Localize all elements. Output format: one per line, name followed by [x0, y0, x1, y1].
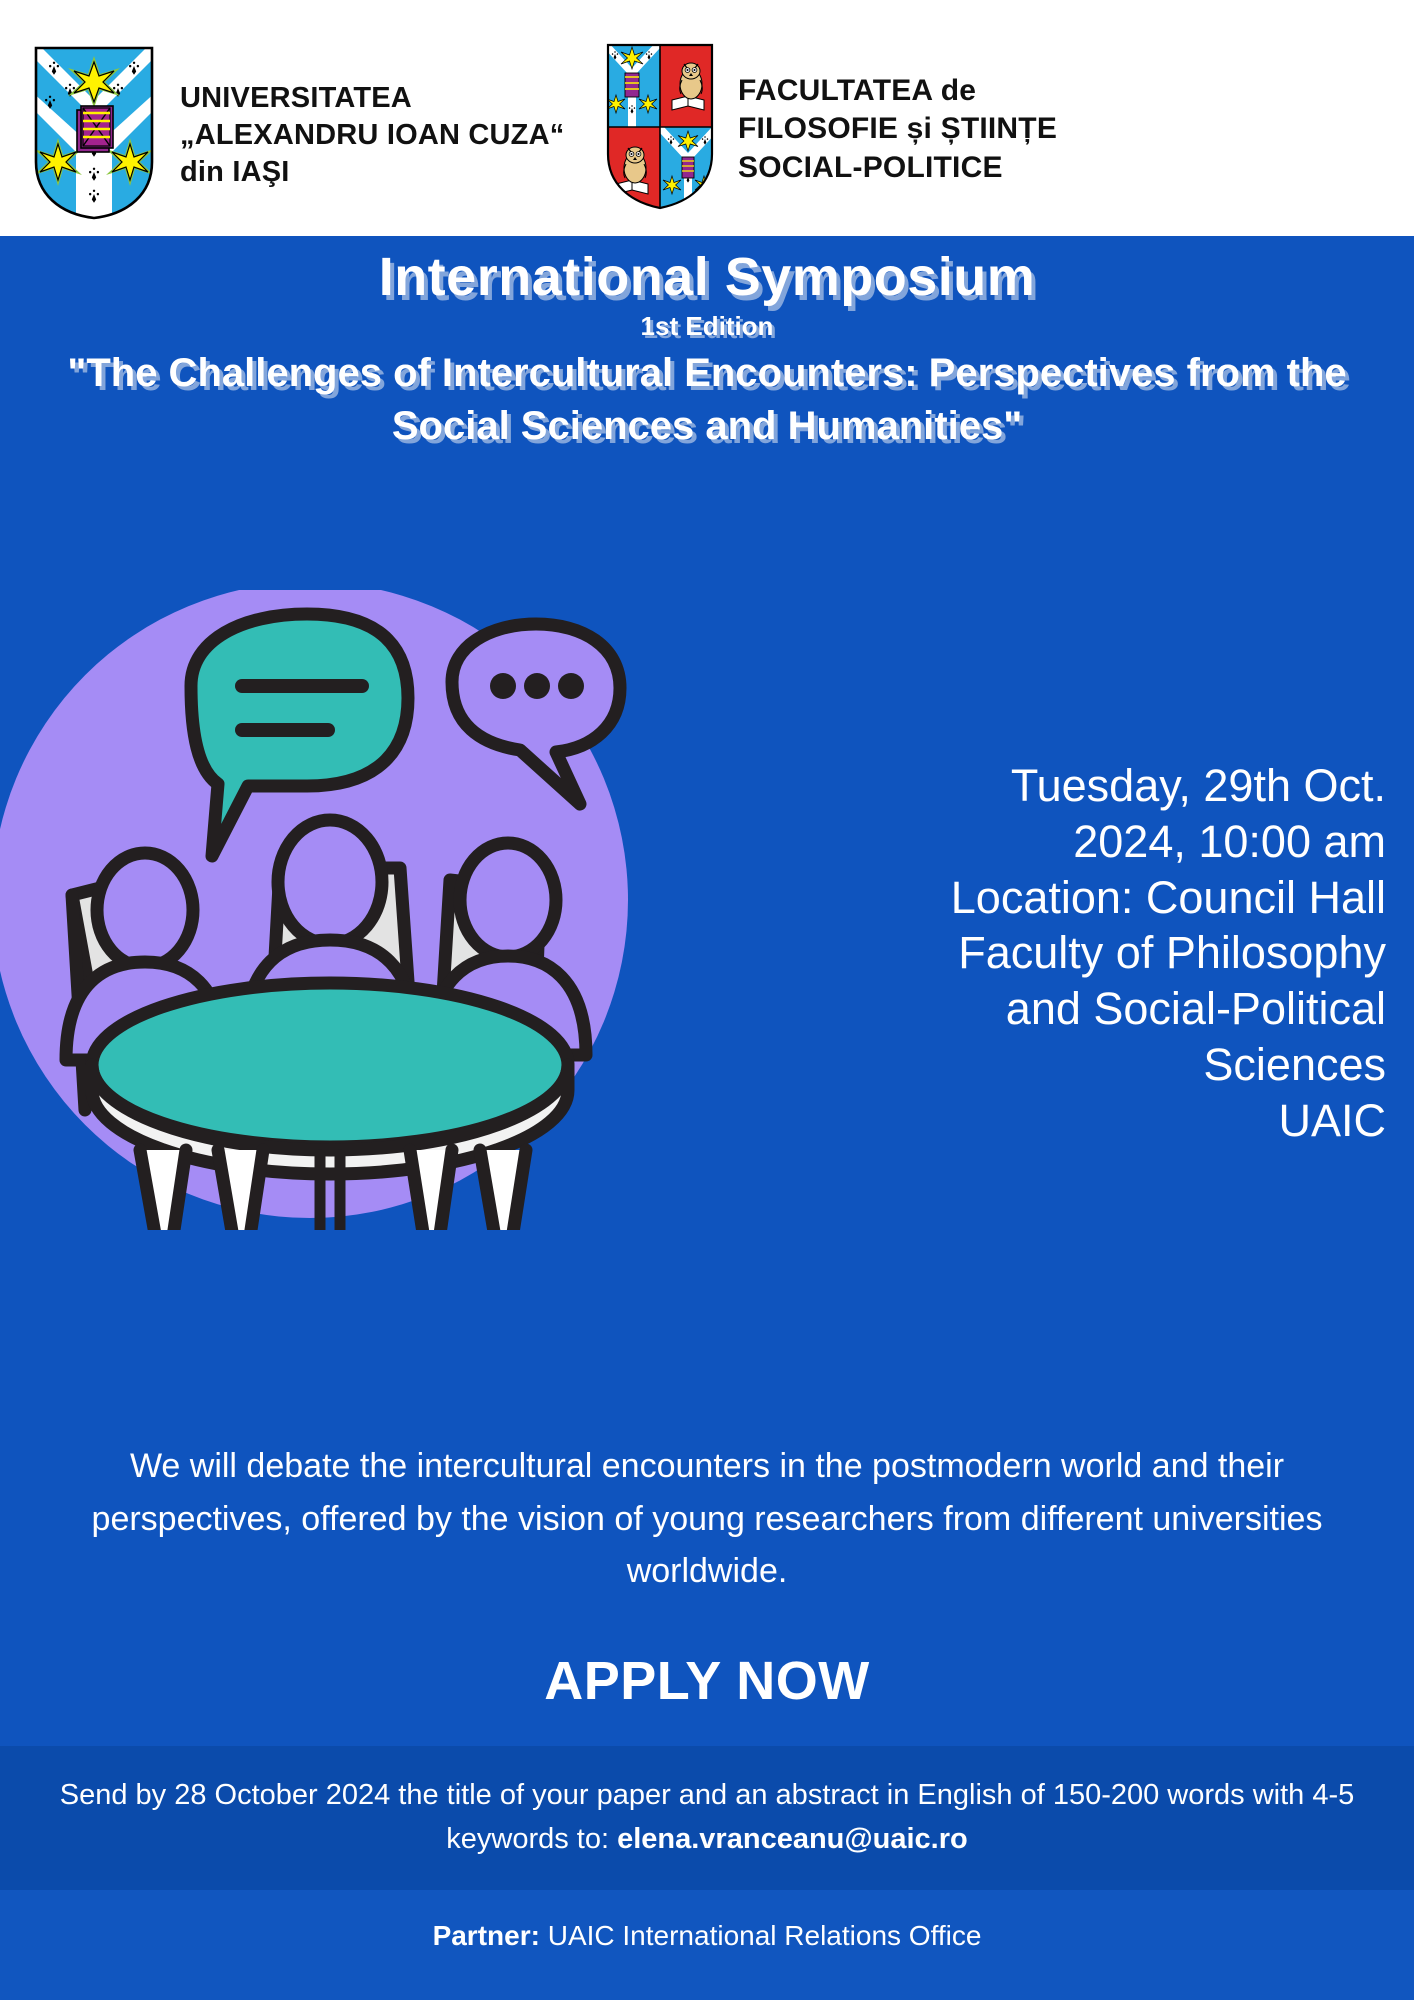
faculty-coat-of-arms-icon	[604, 42, 716, 217]
edition-subtitle: 1st Edition	[0, 312, 1414, 341]
uaic-coat-of-arms-icon	[30, 44, 158, 227]
apply-now-heading: APPLY NOW	[0, 1650, 1414, 1712]
universitatea-alexandru-ioan-cuza-logo: UNIVERSITATEA „ALEXANDRU IOAN CUZA“ din …	[30, 44, 564, 227]
facultatea-de-filosofie-logo: FACULTATEA de FILOSOFIE și ȘTIINȚE SOCIA…	[604, 42, 1057, 217]
faculty-logo-label: FACULTATEA de FILOSOFIE și ȘTIINȚE SOCIA…	[738, 72, 1057, 187]
event-location-line-5: UAIC	[816, 1093, 1386, 1149]
partner-label: Partner:	[433, 1920, 540, 1951]
symposium-theme-title: "The Challenges of Intercultural Encount…	[0, 347, 1414, 453]
event-date-line-2: 2024, 10:00 am	[816, 814, 1386, 870]
partner-info: Partner: UAIC International Relations Of…	[0, 1920, 1414, 1952]
event-location-line-1: Location: Council Hall	[816, 870, 1386, 926]
poster-root: UNIVERSITATEA „ALEXANDRU IOAN CUZA“ din …	[0, 0, 1414, 2000]
header-band: UNIVERSITATEA „ALEXANDRU IOAN CUZA“ din …	[0, 0, 1414, 236]
title-block: International Symposium 1st Edition "The…	[0, 248, 1414, 453]
event-description: We will debate the intercultural encount…	[50, 1440, 1364, 1598]
partner-value: UAIC International Relations Office	[540, 1920, 981, 1951]
submission-instructions: Send by 28 October 2024 the title of you…	[24, 1774, 1390, 1861]
event-location-line-3: and Social-Political	[816, 981, 1386, 1037]
event-location-line-2: Faculty of Philosophy	[816, 925, 1386, 981]
event-details: Tuesday, 29th Oct. 2024, 10:00 am Locati…	[816, 758, 1386, 1149]
event-location-line-4: Sciences	[816, 1037, 1386, 1093]
partner-band: Partner: UAIC International Relations Of…	[0, 1890, 1414, 2000]
event-date-line-1: Tuesday, 29th Oct.	[816, 758, 1386, 814]
contact-email[interactable]: elena.vranceanu@uaic.ro	[617, 1823, 968, 1855]
page-title: International Symposium	[0, 248, 1414, 306]
contact-band: Send by 28 October 2024 the title of you…	[0, 1746, 1414, 1890]
uaic-logo-label: UNIVERSITATEA „ALEXANDRU IOAN CUZA“ din …	[180, 80, 564, 191]
people-at-round-table-illustration	[0, 590, 680, 1230]
